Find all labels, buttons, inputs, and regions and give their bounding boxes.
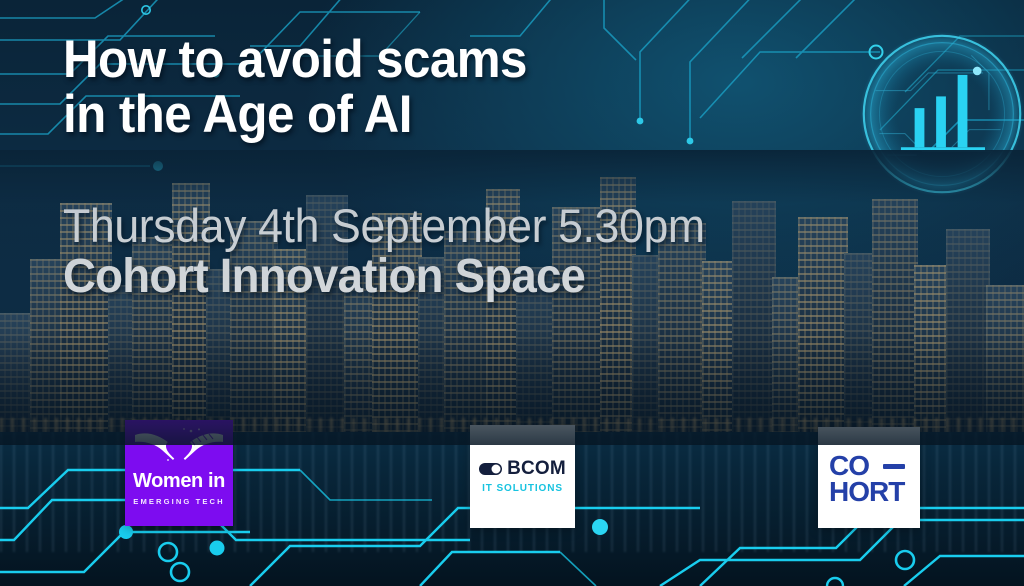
wet-logo-tagline: EMERGING TECH xyxy=(133,498,224,506)
logo-women-in-emerging-tech: Women in EMERGING TECH xyxy=(125,420,233,526)
event-venue: Cohort Innovation Space xyxy=(63,253,585,301)
event-datetime: Thursday 4th September 5.30pm xyxy=(63,202,705,249)
hands-forming-heart-icon xyxy=(133,427,225,467)
logo-cohort: CO HORT xyxy=(818,427,920,528)
bcom-logo-tagline: IT SOLUTIONS xyxy=(482,484,563,494)
cohort-wordmark: CO HORT xyxy=(827,449,911,507)
svg-text:HORT: HORT xyxy=(829,476,905,507)
page-title: How to avoid scams in the Age of AI xyxy=(63,32,527,142)
event-poster: How to avoid scams in the Age of AI Thur… xyxy=(0,0,1024,586)
toggle-switch-icon xyxy=(479,463,502,475)
logo-bcom-it-solutions: BCOM IT SOLUTIONS xyxy=(470,425,575,528)
wet-logo-name: Women in xyxy=(133,471,225,491)
bcom-logo-name: BCOM xyxy=(507,459,566,478)
